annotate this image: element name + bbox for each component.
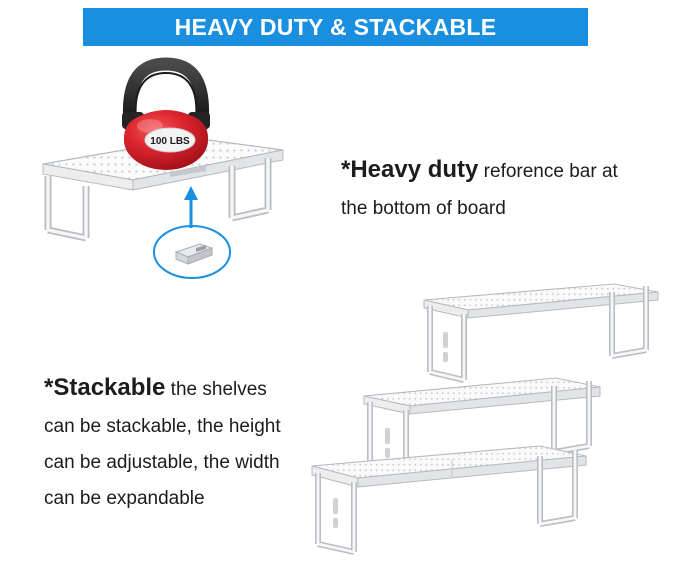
header-banner: HEAVY DUTY & STACKABLE bbox=[83, 8, 588, 46]
callout-stackable-normal: the shelves bbox=[165, 379, 266, 400]
shelf-top bbox=[424, 284, 658, 380]
callout-stackable: *Stackable the shelves can be stackable,… bbox=[44, 370, 281, 517]
callout-stackable-line3: can be adjustable, the width bbox=[44, 445, 281, 481]
kettlebell: 100 LBS bbox=[122, 64, 210, 170]
top-shelf-illustration: 100 LBS bbox=[43, 64, 283, 278]
callout-heavy-duty: *Heavy duty reforence bar at the bottom … bbox=[341, 152, 618, 227]
callout-arrow-icon bbox=[184, 186, 198, 228]
callout-stackable-line2: can be stackable, the height bbox=[44, 409, 281, 445]
detail-zoom-circle bbox=[154, 226, 230, 278]
callout-stackable-strong: *Stackable bbox=[44, 374, 165, 401]
shelf-middle bbox=[364, 378, 600, 478]
callout-heavy-duty-line2: the bottom of board bbox=[341, 191, 618, 227]
callout-heavy-duty-line1: *Heavy duty reforence bar at bbox=[341, 152, 618, 191]
stacked-shelves-illustration bbox=[312, 284, 658, 552]
kettlebell-label: 100 LBS bbox=[150, 136, 190, 147]
callout-heavy-duty-strong: *Heavy duty bbox=[341, 156, 478, 183]
callout-stackable-line1: *Stackable the shelves bbox=[44, 370, 281, 409]
page-title: HEAVY DUTY & STACKABLE bbox=[175, 14, 497, 41]
callout-stackable-line4: can be expandable bbox=[44, 481, 281, 517]
callout-heavy-duty-normal: reforence bar at bbox=[478, 161, 617, 182]
shelf-bottom bbox=[312, 446, 586, 552]
